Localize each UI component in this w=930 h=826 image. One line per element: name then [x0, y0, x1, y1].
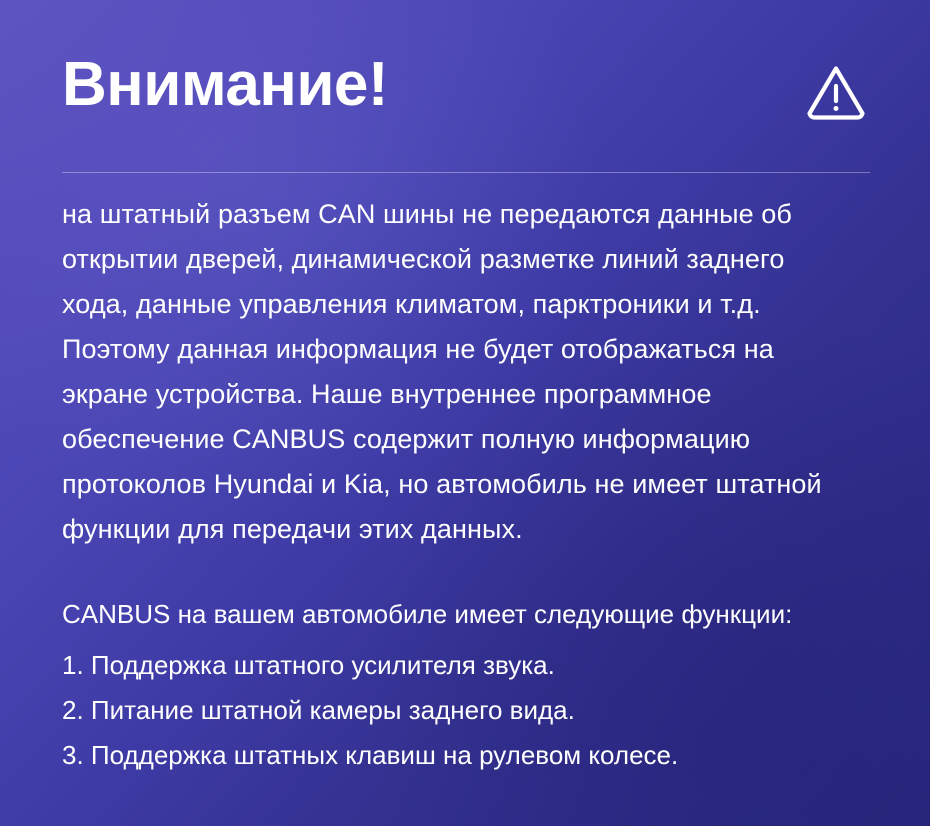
paragraph-line: на штатный разъем CAN шины не передаются…	[62, 192, 870, 237]
features-intro: CANBUS на вашем автомобиле имеет следующ…	[62, 594, 870, 634]
paragraph-line: обеспечение CANBUS содержит полную инфор…	[62, 417, 870, 462]
paragraph-line: хода, данные управления климатом, парктр…	[62, 282, 870, 327]
warning-triangle-icon	[804, 62, 868, 124]
list-item: 2. Питание штатной камеры заднего вида.	[62, 688, 870, 733]
features-section: CANBUS на вашем автомобиле имеет следующ…	[62, 594, 870, 778]
banner-header: Внимание!	[62, 0, 870, 160]
header-divider	[62, 172, 870, 173]
paragraph-text: на штатный разъем CAN шины не передаются…	[62, 192, 870, 552]
banner-content: Внимание! на штатный разъем CAN шины не …	[0, 0, 930, 778]
list-item: 3. Поддержка штатных клавиш на рулевом к…	[62, 733, 870, 778]
paragraph-line: экране устройства. Наше внутреннее прогр…	[62, 372, 870, 417]
list-item: 1. Поддержка штатного усилителя звука.	[62, 643, 870, 688]
warning-paragraph: на штатный разъем CAN шины не передаются…	[62, 192, 870, 552]
paragraph-line: протоколов Hyundai и Kia, но автомобиль …	[62, 462, 870, 507]
features-list: 1. Поддержка штатного усилителя звука. 2…	[62, 643, 870, 778]
paragraph-line: открытии дверей, динамической разметке л…	[62, 237, 870, 282]
page-title: Внимание!	[62, 50, 388, 120]
paragraph-line: функции для передачи этих данных.	[62, 507, 870, 552]
paragraph-line: Поэтому данная информация не будет отобр…	[62, 327, 870, 372]
warning-banner: Внимание! на штатный разъем CAN шины не …	[0, 0, 930, 826]
